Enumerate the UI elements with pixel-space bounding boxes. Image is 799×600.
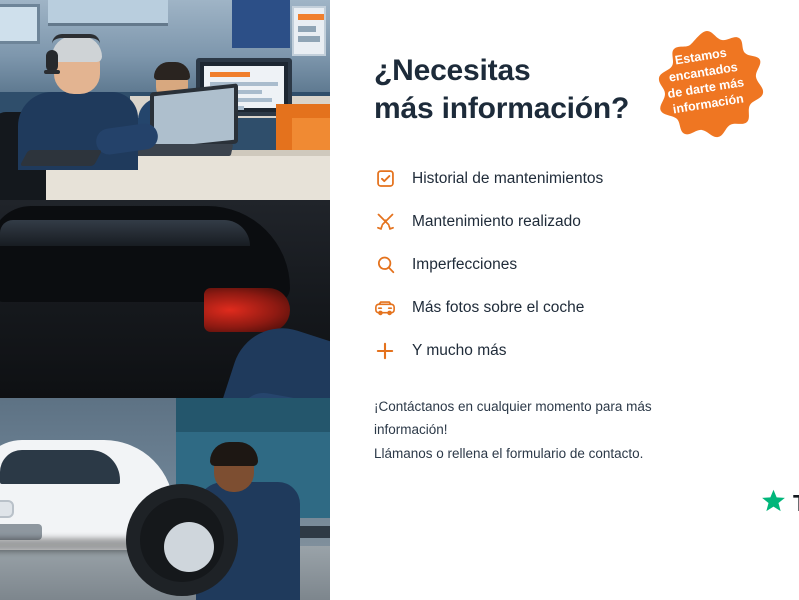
plus-icon: [374, 340, 396, 362]
photo3-wall-panel-top: [176, 398, 330, 432]
photo1-headset-earcup: [46, 50, 58, 72]
trustpilot-logo: Trustpilot: [760, 478, 799, 519]
magnifier-icon: [374, 254, 396, 276]
list-item: Imperfecciones: [374, 253, 765, 277]
photo1-headset-band: [52, 34, 100, 44]
trustpilot-star-icon: [760, 488, 787, 519]
content-panel: ¿Necesitas más información? Historial de…: [330, 0, 799, 600]
list-item: Más fotos sobre el coche: [374, 296, 765, 320]
photo1-person-back-hair: [154, 62, 190, 80]
photo1-window-left: [0, 4, 40, 44]
contact-text: ¡Contáctanos en cualquier momento para m…: [374, 395, 704, 466]
status-badge: Estamos encantados de darte más informac…: [637, 30, 777, 162]
list-item: Historial de mantenimientos: [374, 167, 765, 191]
photo3-wheel: [126, 484, 238, 596]
list-item-label: Imperfecciones: [412, 256, 517, 274]
list-item-label: Historial de mantenimientos: [412, 170, 603, 188]
feature-list: Historial de mantenimientos Mantenimient…: [374, 167, 765, 363]
list-item-label: Y mucho más: [412, 342, 506, 360]
list-item: Y mucho más: [374, 339, 765, 363]
page-title: ¿Necesitas más información?: [374, 52, 674, 129]
photo1-laptop-lid: [150, 83, 238, 152]
photo1-tablet-on-desk: [20, 150, 103, 166]
headline-line-2: más información?: [374, 92, 629, 125]
list-item: Mantenimiento realizado: [374, 210, 765, 234]
photo3-car-window: [0, 450, 120, 484]
photo1-headset-mic: [44, 70, 60, 74]
photo1-window-middle: [48, 0, 168, 26]
photo-tablet-inspection: AUTOHERO: [0, 200, 330, 398]
trustpilot-wordmark: Trustpilot: [793, 490, 799, 517]
photo-strip: AUTOHERO: [0, 0, 330, 600]
headline-line-1: ¿Necesitas: [374, 54, 530, 87]
list-item-label: Más fotos sobre el coche: [412, 299, 584, 317]
photo-service-advisors: [0, 0, 330, 200]
photo3-car-headlight: [0, 500, 14, 518]
photo1-wall-poster: [292, 6, 326, 56]
photo-wheel-mechanic: [0, 398, 330, 600]
info-promo-card: AUTOHERO: [0, 0, 799, 600]
photo1-blue-banner: [232, 0, 290, 48]
clipboard-checklist-icon: [374, 168, 396, 190]
contact-line-2: Llámanos o rellena el formulario de cont…: [374, 442, 704, 466]
trustpilot-widget[interactable]: Trustpilot Excelente: [760, 478, 799, 546]
car-photo-icon: [374, 297, 396, 319]
list-item-label: Mantenimiento realizado: [412, 213, 581, 231]
contact-line-1: ¡Contáctanos en cualquier momento para m…: [374, 395, 704, 442]
photo3-wheel-rim: [164, 522, 214, 572]
crossed-tools-icon: [374, 211, 396, 233]
photo3-mechanic-hair: [210, 442, 258, 466]
badge-content: Estamos encantados de darte más informac…: [628, 20, 787, 172]
photo2-car-reflection: [0, 220, 250, 246]
photo1-laptop-screen: [154, 88, 234, 148]
photo2-taillight: [204, 288, 290, 332]
